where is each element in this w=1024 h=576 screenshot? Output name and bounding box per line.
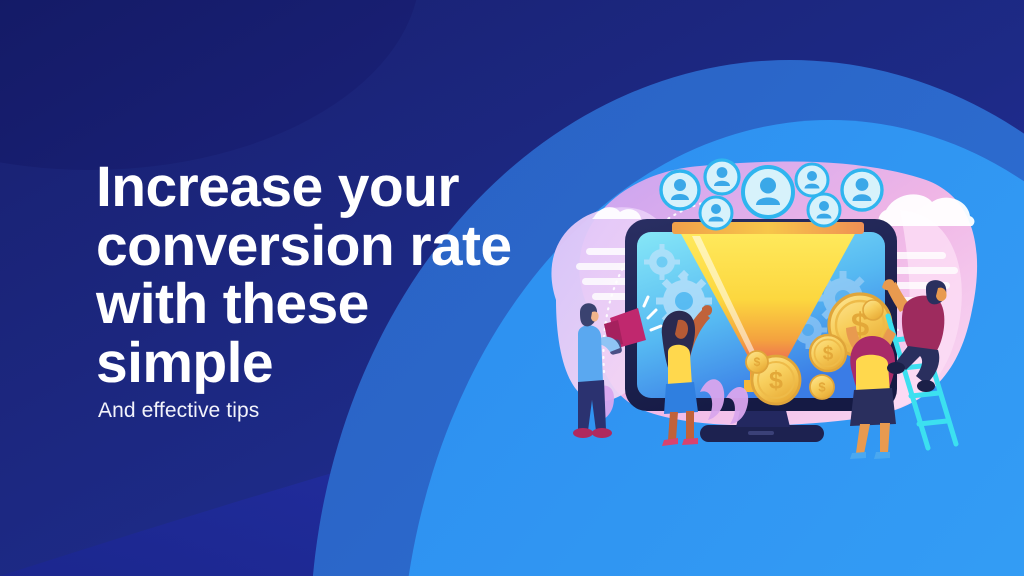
banner-root: $ $ $ $ $ bbox=[0, 0, 1024, 576]
climber-shoe-upper bbox=[917, 380, 935, 392]
page-subtitle: And effective tips bbox=[98, 399, 526, 423]
dollar-coin bbox=[863, 300, 883, 320]
user-avatar bbox=[808, 194, 840, 226]
svg-text:$: $ bbox=[823, 344, 834, 365]
woman-heel-left bbox=[662, 438, 678, 446]
page-title: Increase your conversion rate with these… bbox=[96, 158, 526, 393]
man-legs bbox=[578, 380, 606, 431]
coin-woman-top bbox=[856, 355, 890, 394]
dollar-coin: $ bbox=[810, 375, 834, 399]
svg-text:$: $ bbox=[769, 367, 783, 395]
woman-heel-right bbox=[682, 438, 698, 445]
man-body bbox=[578, 325, 603, 384]
svg-text:$: $ bbox=[754, 355, 761, 369]
user-avatar bbox=[705, 160, 739, 194]
text-block: Increase your conversion rate with these… bbox=[96, 158, 526, 423]
woman-skirt bbox=[664, 382, 698, 414]
user-avatar bbox=[743, 167, 793, 217]
man-shoe-right bbox=[592, 428, 612, 438]
coin-woman-shoe-right bbox=[874, 452, 890, 459]
svg-text:$: $ bbox=[818, 380, 826, 395]
man-shoe-left bbox=[573, 428, 593, 438]
user-avatar bbox=[661, 171, 699, 209]
user-avatar bbox=[842, 170, 882, 210]
user-avatar bbox=[700, 197, 732, 229]
coin-woman-shoe-left bbox=[850, 452, 866, 459]
monitor-base-highlight bbox=[748, 431, 774, 435]
funnel-rim bbox=[672, 222, 864, 234]
user-avatar bbox=[796, 164, 828, 196]
coin-woman-legs bbox=[856, 423, 890, 454]
dollar-coin: $ bbox=[810, 335, 846, 371]
woman-top bbox=[668, 345, 692, 388]
climber-body bbox=[902, 296, 944, 352]
coin-woman-skirt bbox=[850, 388, 896, 426]
climber-shoe-lower bbox=[887, 362, 905, 374]
dollar-coin: $ bbox=[746, 351, 768, 373]
